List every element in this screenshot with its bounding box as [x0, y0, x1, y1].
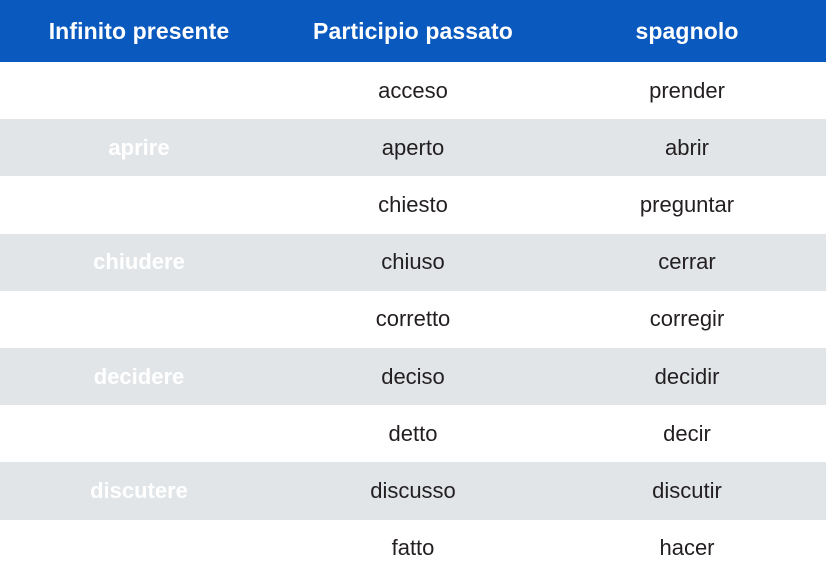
- table-row: accendere acceso prender: [0, 62, 826, 119]
- cell-participio: chiesto: [278, 192, 548, 218]
- table-row: dire detto decir: [0, 405, 826, 462]
- cell-participio: acceso: [278, 78, 548, 104]
- column-header-spagnolo: spagnolo: [548, 18, 826, 45]
- cell-spagnolo: preguntar: [548, 192, 826, 218]
- cell-spagnolo: corregir: [548, 306, 826, 332]
- cell-infinito: corregere: [0, 306, 278, 332]
- cell-spagnolo: hacer: [548, 535, 826, 561]
- cell-participio: aperto: [278, 135, 548, 161]
- cell-spagnolo: decir: [548, 421, 826, 447]
- cell-infinito: dire: [0, 421, 278, 447]
- table-row: chiudere chiuso cerrar: [0, 234, 826, 291]
- cell-spagnolo: discutir: [548, 478, 826, 504]
- cell-participio: deciso: [278, 364, 548, 390]
- cell-infinito: discutere: [0, 478, 278, 504]
- table-row: chiedere chiesto preguntar: [0, 176, 826, 233]
- table-row: corregere corretto corregir: [0, 291, 826, 348]
- cell-spagnolo: decidir: [548, 364, 826, 390]
- table-row: aprire aperto abrir: [0, 119, 826, 176]
- verb-conjugation-table: Infinito presente Participio passato spa…: [0, 0, 826, 577]
- cell-infinito: chiedere: [0, 192, 278, 218]
- cell-participio: chiuso: [278, 249, 548, 275]
- cell-infinito: decidere: [0, 364, 278, 390]
- cell-infinito: accendere: [0, 78, 278, 104]
- cell-spagnolo: abrir: [548, 135, 826, 161]
- table-row: fare fatto hacer: [0, 520, 826, 577]
- cell-participio: corretto: [278, 306, 548, 332]
- cell-infinito: aprire: [0, 135, 278, 161]
- cell-infinito: fare: [0, 535, 278, 561]
- cell-spagnolo: cerrar: [548, 249, 826, 275]
- cell-participio: discusso: [278, 478, 548, 504]
- cell-participio: detto: [278, 421, 548, 447]
- column-header-participio-passato: Participio passato: [278, 18, 548, 45]
- table-row: decidere deciso decidir: [0, 348, 826, 405]
- cell-infinito: chiudere: [0, 249, 278, 275]
- cell-participio: fatto: [278, 535, 548, 561]
- cell-spagnolo: prender: [548, 78, 826, 104]
- table-row: discutere discusso discutir: [0, 462, 826, 519]
- column-header-infinito-presente: Infinito presente: [0, 18, 278, 45]
- table-body: accendere acceso prender aprire aperto a…: [0, 62, 826, 577]
- table-header-row: Infinito presente Participio passato spa…: [0, 0, 826, 62]
